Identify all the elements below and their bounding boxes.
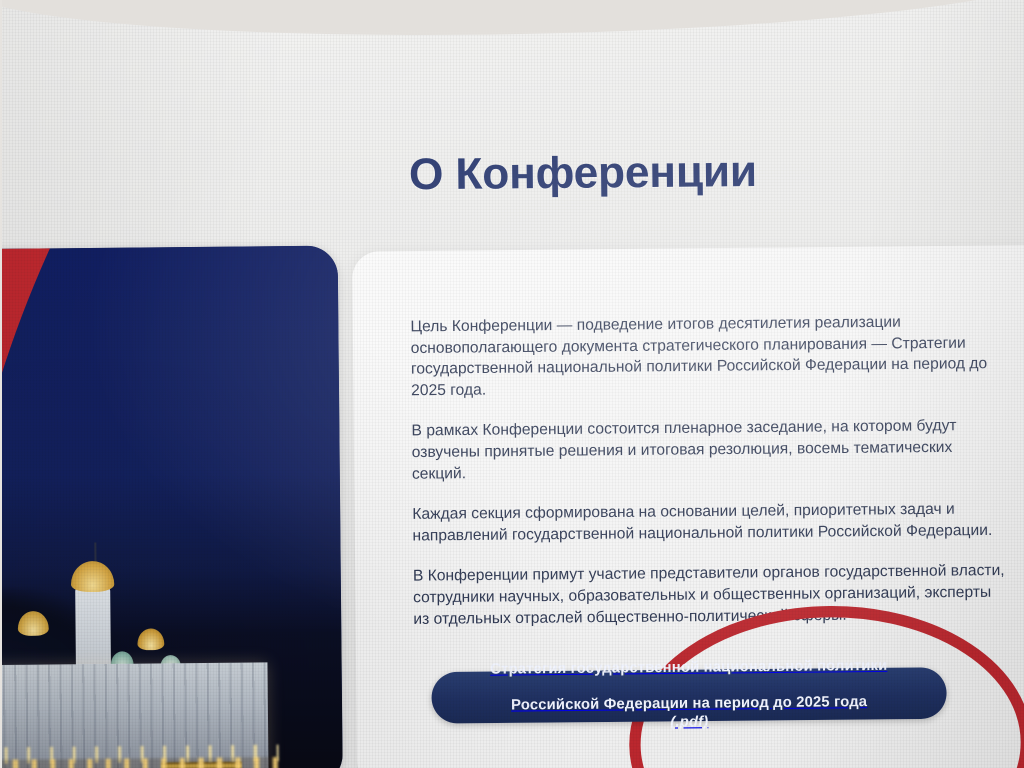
pdf-button-line-1: Стратегия государственной национальной п…	[468, 657, 911, 679]
hero-photo-panel	[0, 246, 343, 768]
about-conference-text: Цель Конференции — подведение итогов дес…	[410, 311, 1010, 630]
paragraph-4: В Конференции примут участие представите…	[413, 561, 1011, 630]
pdf-button-label: Стратегия государственной национальной п…	[445, 657, 933, 734]
paragraph-3: Каждая секция сформирована на основании …	[412, 499, 1010, 547]
web-page-surface: О Конференции Цель Конференции — подведе…	[0, 0, 1024, 768]
photographed-screen: О Конференции Цель Конференции — подведе…	[0, 0, 1024, 768]
download-strategy-pdf-button[interactable]: Стратегия государственной национальной п…	[431, 667, 946, 723]
paragraph-2: В рамках Конференции состоится пленарное…	[411, 416, 1009, 485]
cross-spire-icon	[94, 542, 96, 563]
paragraph-1: Цель Конференции — подведение итогов дес…	[410, 311, 1008, 402]
page-title: О Конференции	[409, 147, 757, 201]
embankment-light-strip	[0, 757, 279, 768]
